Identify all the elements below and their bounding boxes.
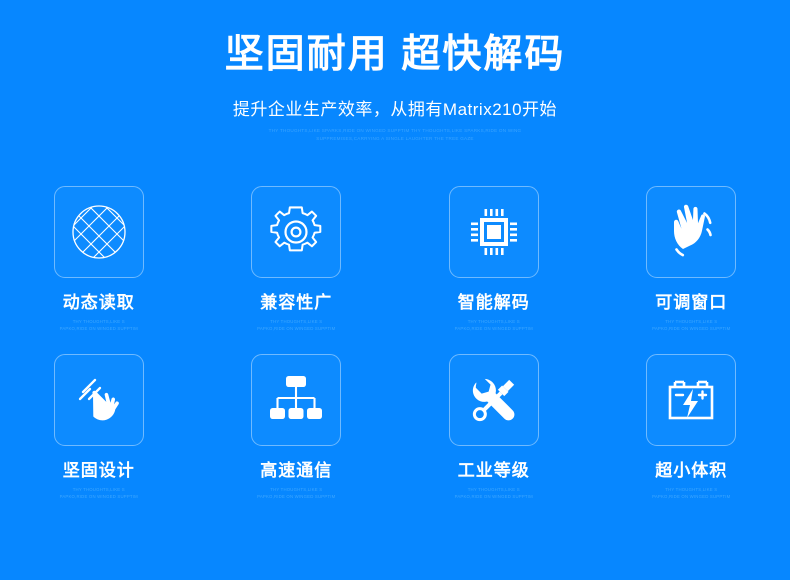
feature-card-compact-size[interactable]: 超小体积 THY THOUGHTS,LIKE S PAPKO,RIDE ON W… [593, 354, 790, 522]
feature-caption-line-2: PAPKO,RIDE ON WINGED SUPPTIM [652, 493, 730, 500]
feature-caption-line-2: PAPKO,RIDE ON WINGED SUPPTIM [60, 325, 138, 332]
feature-card-adjustable-window[interactable]: 可调窗口 THY THOUGHTS,LIKE S PAPKO,RIDE ON W… [593, 186, 790, 354]
feature-caption-line-2: PAPKO,RIDE ON WINGED SUPPTIM [257, 493, 335, 500]
feature-caption: THY THOUGHTS,LIKE S PAPKO,RIDE ON WINGED… [455, 486, 533, 500]
feature-caption: THY THOUGHTS,LIKE S PAPKO,RIDE ON WINGED… [652, 318, 730, 332]
feature-card-dynamic-read[interactable]: 动态读取 THY THOUGHTS,LIKE S PAPKO,RIDE ON W… [0, 186, 198, 354]
battery-bolt-icon [646, 354, 736, 446]
wrench-screwdriver-icon [449, 354, 539, 446]
mesh-sphere-icon [54, 186, 144, 278]
feature-label: 动态读取 [63, 294, 135, 311]
header-micro-line-1: THY THOUGHTS,LIKE SPARKS,RIDE ON WINGED … [0, 127, 790, 134]
feature-caption-line-2: PAPKO,RIDE ON WINGED SUPPTIM [455, 325, 533, 332]
feature-label: 兼容性广 [260, 294, 332, 311]
feature-caption: THY THOUGHTS,LIKE S PAPKO,RIDE ON WINGED… [652, 486, 730, 500]
feature-caption: THY THOUGHTS,LIKE S PAPKO,RIDE ON WINGED… [257, 318, 335, 332]
feature-card-fast-comms[interactable]: 高速通信 THY THOUGHTS,LIKE S PAPKO,RIDE ON W… [198, 354, 396, 522]
feature-label: 坚固设计 [63, 462, 135, 479]
feature-caption-line-1: THY THOUGHTS,LIKE S [257, 486, 335, 493]
page-subtitle: 提升企业生产效率，从拥有Matrix210开始 [0, 78, 790, 120]
feature-caption-line-1: THY THOUGHTS,LIKE S [652, 486, 730, 493]
feature-caption-line-1: THY THOUGHTS,LIKE S [455, 318, 533, 325]
cpu-chip-icon [449, 186, 539, 278]
feature-caption: THY THOUGHTS,LIKE S PAPKO,RIDE ON WINGED… [60, 486, 138, 500]
feature-caption-line-2: PAPKO,RIDE ON WINGED SUPPTIM [257, 325, 335, 332]
gear-icon [251, 186, 341, 278]
feature-caption: THY THOUGHTS,LIKE S PAPKO,RIDE ON WINGED… [455, 318, 533, 332]
feature-card-compatibility[interactable]: 兼容性广 THY THOUGHTS,LIKE S PAPKO,RIDE ON W… [198, 186, 396, 354]
feature-caption: THY THOUGHTS,LIKE S PAPKO,RIDE ON WINGED… [257, 486, 335, 500]
feature-grid: 动态读取 THY THOUGHTS,LIKE S PAPKO,RIDE ON W… [0, 186, 790, 522]
header: 坚固耐用 超快解码 提升企业生产效率，从拥有Matrix210开始 THY TH… [0, 0, 790, 142]
feature-card-industrial-grade[interactable]: 工业等级 THY THOUGHTS,LIKE S PAPKO,RIDE ON W… [395, 354, 593, 522]
feature-card-rugged-design[interactable]: 坚固设计 THY THOUGHTS,LIKE S PAPKO,RIDE ON W… [0, 354, 198, 522]
page-title: 坚固耐用 超快解码 [0, 0, 790, 78]
feature-label: 可调窗口 [655, 294, 727, 311]
feature-caption: THY THOUGHTS,LIKE S PAPKO,RIDE ON WINGED… [60, 318, 138, 332]
feature-caption-line-1: THY THOUGHTS,LIKE S [257, 318, 335, 325]
tap-hand-icon [54, 354, 144, 446]
promo-banner: 坚固耐用 超快解码 提升企业生产效率，从拥有Matrix210开始 THY TH… [0, 0, 790, 580]
feature-label: 高速通信 [260, 462, 332, 479]
feature-caption-line-1: THY THOUGHTS,LIKE S [652, 318, 730, 325]
feature-label: 智能解码 [458, 294, 530, 311]
feature-label: 超小体积 [655, 462, 727, 479]
feature-caption-line-1: THY THOUGHTS,LIKE S [60, 486, 138, 493]
feature-caption-line-1: THY THOUGHTS,LIKE S [60, 318, 138, 325]
feature-caption-line-1: THY THOUGHTS,LIKE S [455, 486, 533, 493]
header-micro-line-2: SUPPREMISES,CARRYING A SINGLE LAUGHTER T… [0, 135, 790, 142]
feature-caption-line-2: PAPKO,RIDE ON WINGED SUPPTIM [652, 325, 730, 332]
network-tree-icon [251, 354, 341, 446]
feature-caption-line-2: PAPKO,RIDE ON WINGED SUPPTIM [60, 493, 138, 500]
header-micro-text: THY THOUGHTS,LIKE SPARKS,RIDE ON WINGED … [0, 120, 790, 142]
waving-hand-icon [646, 186, 736, 278]
feature-caption-line-2: PAPKO,RIDE ON WINGED SUPPTIM [455, 493, 533, 500]
feature-card-smart-decode[interactable]: 智能解码 THY THOUGHTS,LIKE S PAPKO,RIDE ON W… [395, 186, 593, 354]
feature-label: 工业等级 [458, 462, 530, 479]
